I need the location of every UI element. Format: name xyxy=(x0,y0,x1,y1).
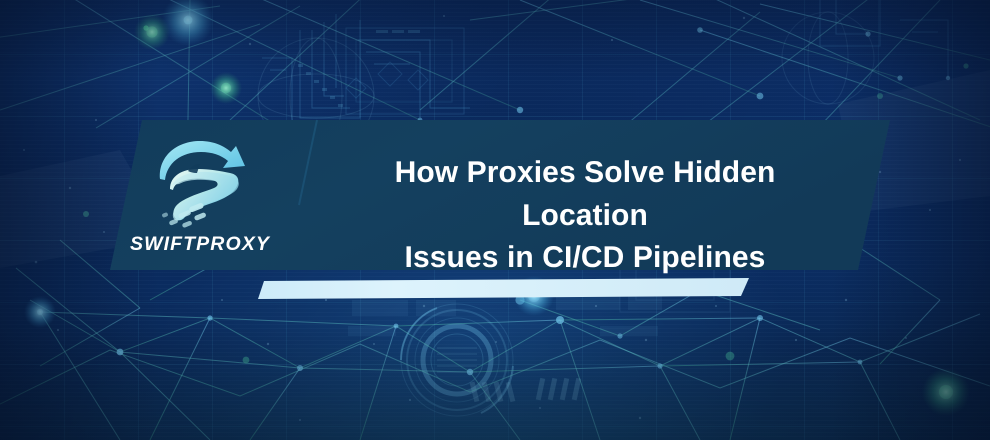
hero-title-line-1: How Proxies Solve Hidden Location xyxy=(395,156,776,232)
accent-underline-bar xyxy=(258,278,749,299)
swiftproxy-s-arrow-logo-icon xyxy=(148,133,252,229)
brand-wordmark: SWIFTPROXY xyxy=(124,233,276,256)
hero-banner: SWIFTPROXY How Proxies Solve Hidden Loca… xyxy=(0,0,990,440)
brand-logo-block: SWIFTPROXY xyxy=(124,133,276,256)
hero-title-line-2: Issues in CI/CD Pipelines xyxy=(405,241,766,274)
page-title: How Proxies Solve Hidden Location Issues… xyxy=(330,152,840,280)
hero-title-container: How Proxies Solve Hidden Location Issues… xyxy=(330,152,840,280)
